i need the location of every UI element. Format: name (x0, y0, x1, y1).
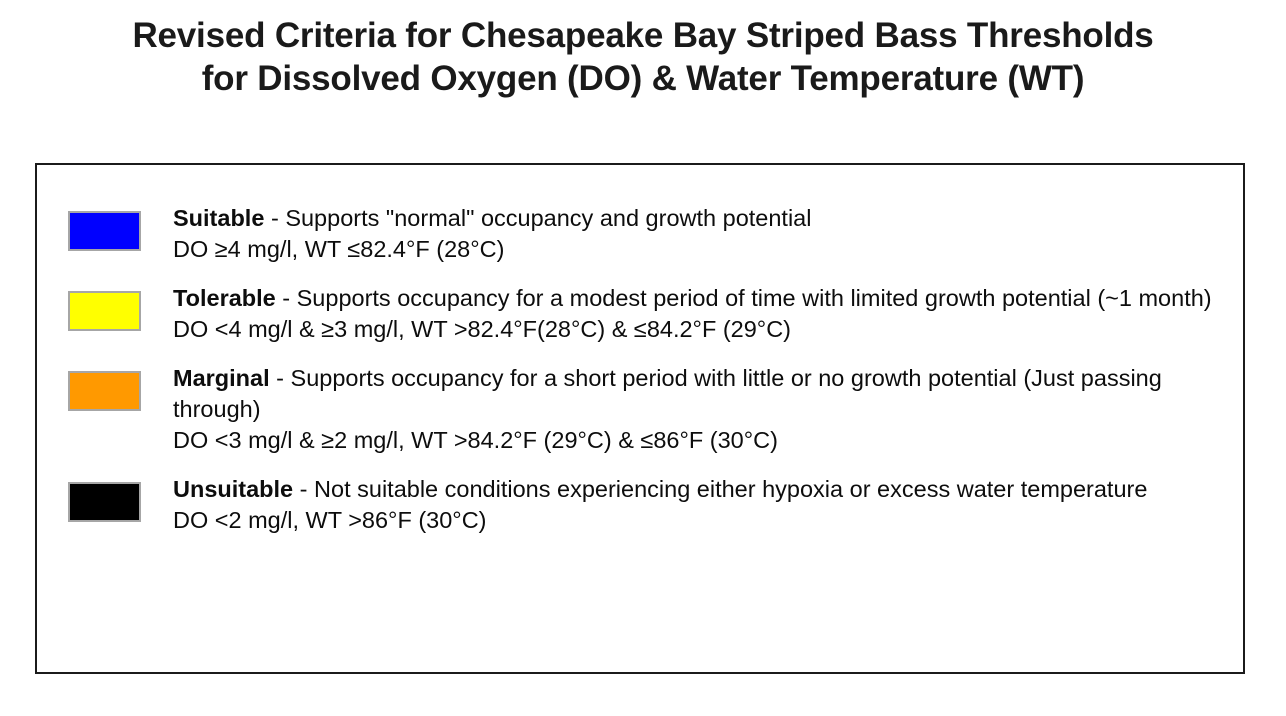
legend-entry-suitable: Suitable - Supports "normal" occupancy a… (68, 203, 1225, 265)
color-swatch-blue (68, 211, 141, 251)
legend-list: Suitable - Supports "normal" occupancy a… (68, 203, 1225, 536)
legend-entry-tolerable: Tolerable - Supports occupancy for a mod… (68, 283, 1225, 345)
legend-entry-text: Unsuitable - Not suitable conditions exp… (173, 474, 1225, 536)
legend-entry-thresholds: DO <3 mg/l & ≥2 mg/l, WT >84.2°F (29°C) … (173, 425, 1225, 456)
legend-entry-separator: - (276, 285, 297, 311)
slide-title: Revised Criteria for Chesapeake Bay Stri… (0, 14, 1286, 100)
legend-entry-separator: - (293, 476, 314, 502)
legend-entry-thresholds: DO <4 mg/l & ≥3 mg/l, WT >82.4°F(28°C) &… (173, 314, 1225, 345)
legend-entry-name: Tolerable (173, 285, 276, 311)
legend-entry-separator: - (270, 365, 291, 391)
legend-entry-name: Unsuitable (173, 476, 293, 502)
color-swatch-orange (68, 371, 141, 411)
legend-entry-description: Not suitable conditions experiencing eit… (314, 476, 1147, 502)
legend-entry-thresholds: DO ≥4 mg/l, WT ≤82.4°F (28°C) (173, 234, 1225, 265)
legend-entry-text: Marginal - Supports occupancy for a shor… (173, 363, 1225, 456)
legend-entry-description: Supports "normal" occupancy and growth p… (285, 205, 811, 231)
color-swatch-black (68, 482, 141, 522)
legend-entry-description: Supports occupancy for a modest period o… (297, 285, 1212, 311)
legend-entry-unsuitable: Unsuitable - Not suitable conditions exp… (68, 474, 1225, 536)
legend-entry-description: Supports occupancy for a short period wi… (173, 365, 1162, 422)
legend-entry-name: Suitable (173, 205, 264, 231)
legend-entry-text: Tolerable - Supports occupancy for a mod… (173, 283, 1225, 345)
color-swatch-yellow (68, 291, 141, 331)
legend-entry-marginal: Marginal - Supports occupancy for a shor… (68, 363, 1225, 456)
legend-entry-text: Suitable - Supports "normal" occupancy a… (173, 203, 1225, 265)
legend-panel: Suitable - Supports "normal" occupancy a… (35, 163, 1245, 674)
legend-entry-name: Marginal (173, 365, 270, 391)
legend-entry-thresholds: DO <2 mg/l, WT >86°F (30°C) (173, 505, 1225, 536)
legend-entry-separator: - (264, 205, 285, 231)
